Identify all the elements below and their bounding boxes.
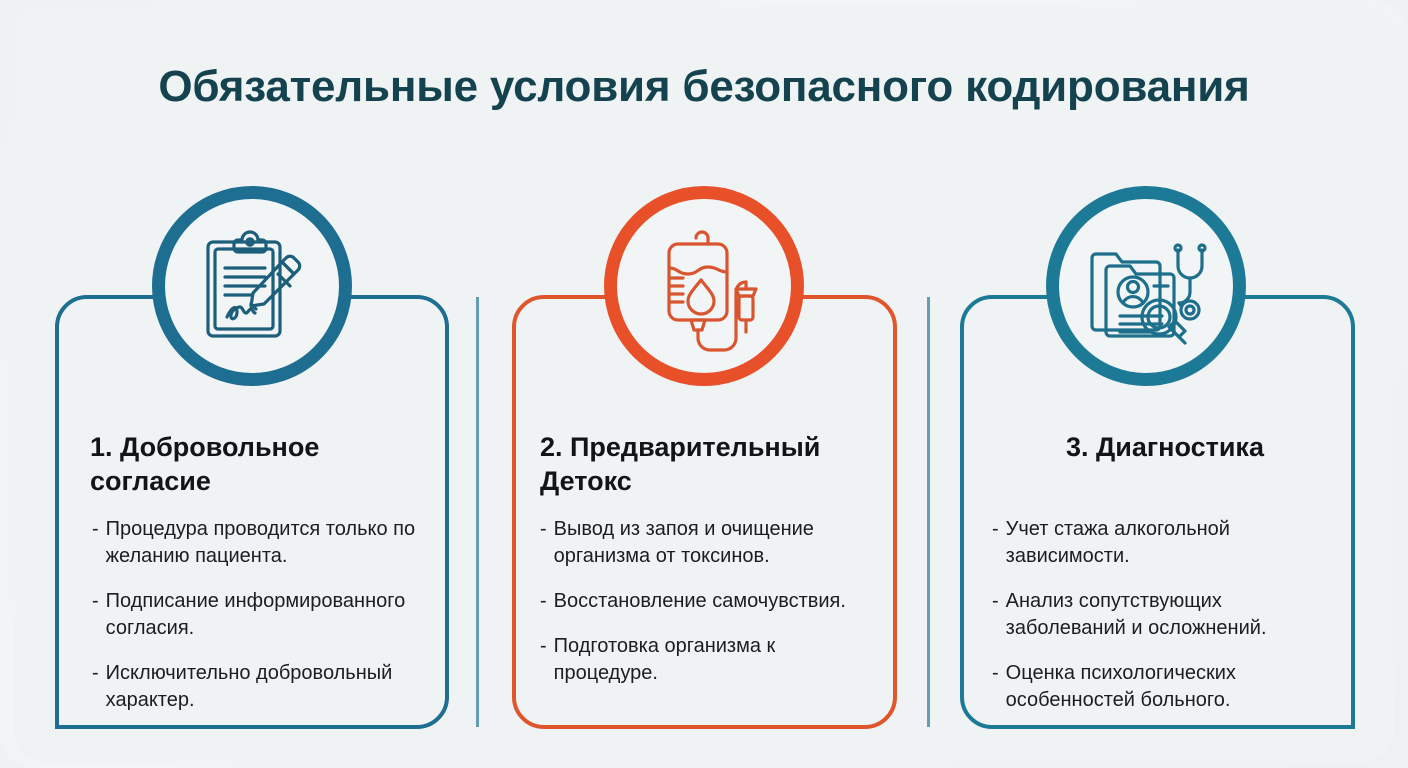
bullet-marker: -: [92, 588, 106, 642]
bullet-marker: -: [92, 660, 106, 714]
list-item: - Учет стажа алкогольной зависимости.: [992, 516, 1332, 570]
bullet-text: Учет стажа алкогольной зависимости.: [1006, 516, 1332, 570]
bullet-text: Восстановление самочувствия.: [554, 588, 885, 615]
list-item: - Подписание информированного согласия.: [92, 588, 442, 642]
list-item: - Вывод из запоя и очищение организма от…: [540, 516, 885, 570]
bullet-text: Анализ сопутствующих заболеваний и ослож…: [1006, 588, 1332, 642]
list-item: - Процедура проводится только по желанию…: [92, 516, 442, 570]
list-item: - Восстановление самочувствия.: [540, 588, 885, 615]
card-2-bullets: - Вывод из запоя и очищение организма от…: [540, 516, 885, 705]
bullet-marker: -: [540, 588, 554, 615]
card-1-bullets: - Процедура проводится только по желанию…: [92, 516, 442, 732]
card-1-heading: 1. Добровольное согласие: [90, 430, 420, 498]
divider-2: [927, 297, 930, 727]
iv-drip-bag-icon: [638, 220, 770, 352]
icon-badge-preliminary-detox: [604, 186, 804, 386]
icon-badge-diagnostics: [1046, 186, 1246, 386]
page-title: Обязательные условия безопасного кодиров…: [0, 60, 1408, 114]
bullet-text: Исключительно добровольный характер.: [106, 660, 442, 714]
bullet-text: Оценка психологических особенностей боль…: [1006, 660, 1332, 714]
divider-1: [476, 297, 479, 727]
card-2-heading: 2. Предварительный Детокс: [540, 430, 880, 498]
bullet-marker: -: [992, 516, 1006, 570]
bullet-marker: -: [540, 516, 554, 570]
bullet-marker: -: [92, 516, 106, 570]
card-3-heading: 3. Диагностика: [1000, 430, 1330, 464]
list-item: - Анализ сопутствующих заболеваний и осл…: [992, 588, 1332, 642]
clipboard-signature-icon: [186, 220, 318, 352]
bullet-marker: -: [992, 588, 1006, 642]
infographic-canvas: Обязательные условия безопасного кодиров…: [0, 0, 1408, 768]
bullet-marker: -: [540, 633, 554, 687]
bullet-text: Процедура проводится только по желанию п…: [106, 516, 442, 570]
list-item: - Оценка психологических особенностей бо…: [992, 660, 1332, 714]
bullet-text: Подготовка организма к процедуре.: [554, 633, 885, 687]
bullet-text: Вывод из запоя и очищение организма от т…: [554, 516, 885, 570]
patient-file-stethoscope-icon: [1080, 220, 1212, 352]
card-3-bullets: - Учет стажа алкогольной зависимости. - …: [992, 516, 1332, 732]
icon-badge-voluntary-consent: [152, 186, 352, 386]
bullet-text: Подписание информированного согласия.: [106, 588, 442, 642]
bullet-marker: -: [992, 660, 1006, 714]
list-item: - Исключительно добровольный характер.: [92, 660, 442, 714]
list-item: - Подготовка организма к процедуре.: [540, 633, 885, 687]
